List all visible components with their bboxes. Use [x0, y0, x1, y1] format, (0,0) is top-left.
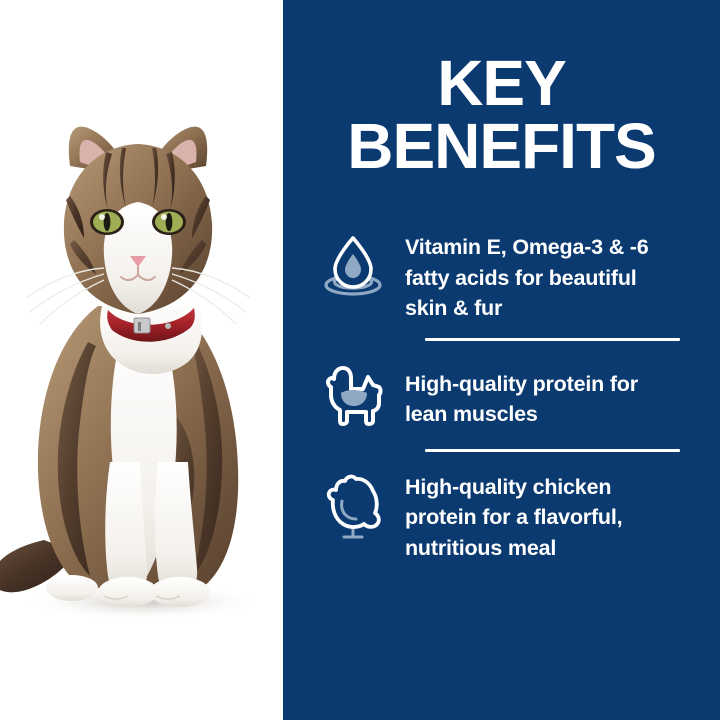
- key-benefits-panel: KEY BENEFITS Vitamin E,: [0, 0, 720, 720]
- benefit-divider-2: [425, 449, 680, 452]
- water-droplet-icon: [321, 228, 385, 306]
- benefit-text-lean-muscles: High-quality protein for lean muscles: [405, 357, 673, 430]
- page-title: KEY BENEFITS: [283, 52, 720, 177]
- cat-photo: [0, 110, 283, 620]
- chicken-icon: [321, 468, 385, 546]
- benefit-item-lean-muscles: High-quality protein for lean muscles: [283, 357, 720, 435]
- benefit-text-chicken-protein: High-quality chicken protein for a flavo…: [405, 468, 673, 564]
- title-line-2: BENEFITS: [283, 115, 720, 178]
- benefit-item-skin-fur: Vitamin E, Omega-3 & -6 fatty acids for …: [283, 228, 720, 324]
- title-line-1: KEY: [283, 52, 720, 115]
- benefits-panel: KEY BENEFITS Vitamin E,: [283, 0, 720, 720]
- cat-silhouette-icon: [321, 357, 385, 435]
- benefit-text-skin-fur: Vitamin E, Omega-3 & -6 fatty acids for …: [405, 228, 673, 324]
- benefit-divider-1: [425, 338, 680, 341]
- benefit-item-chicken-protein: High-quality chicken protein for a flavo…: [283, 468, 720, 564]
- cat-photo-pane: [0, 0, 283, 720]
- benefit-list: Vitamin E, Omega-3 & -6 fatty acids for …: [283, 228, 720, 563]
